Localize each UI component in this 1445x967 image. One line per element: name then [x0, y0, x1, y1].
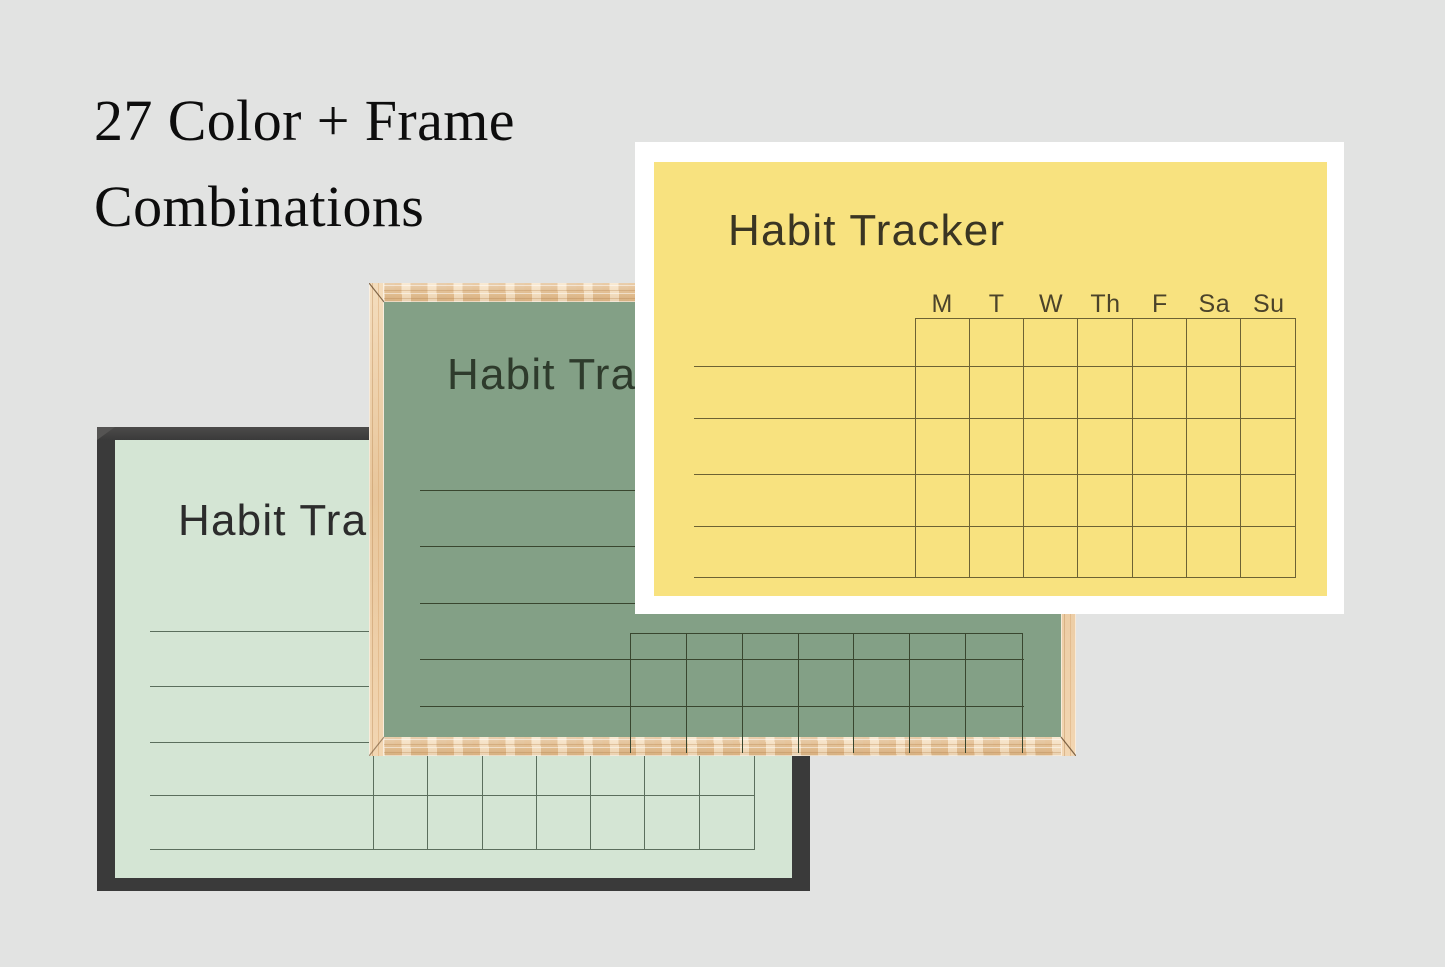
grid-cell[interactable] — [1078, 525, 1132, 577]
grid-cell[interactable] — [687, 694, 743, 754]
grid-cell[interactable] — [483, 796, 537, 850]
page-title: 27 Color + Frame Combinations — [94, 78, 654, 250]
grid-cell[interactable] — [854, 694, 910, 754]
day-label: M — [915, 290, 969, 319]
grid-cell[interactable] — [700, 796, 754, 850]
grid-cell[interactable] — [1133, 474, 1187, 526]
grid-cell[interactable] — [1024, 474, 1078, 526]
grid-cell[interactable] — [1078, 474, 1132, 526]
grid-cell[interactable] — [916, 319, 970, 371]
grid-cell[interactable] — [631, 694, 687, 754]
grid-cell[interactable] — [966, 634, 1022, 694]
card-title-yellow: Habit Tracker — [728, 206, 1005, 256]
grid-cell[interactable] — [1187, 371, 1241, 423]
grid-cell[interactable] — [1241, 371, 1295, 423]
grid-cell[interactable] — [970, 422, 1024, 474]
grid-cell[interactable] — [970, 474, 1024, 526]
card-paper-yellow: Habit Tracker M T W Th F Sa Su — [654, 162, 1327, 596]
habit-grid-yellow[interactable] — [915, 318, 1296, 577]
habit-tracker-card-yellow[interactable]: Habit Tracker M T W Th F Sa Su — [635, 142, 1344, 614]
day-label: W — [1024, 290, 1078, 319]
grid-cell[interactable] — [631, 634, 687, 694]
grid-cell[interactable] — [916, 525, 970, 577]
grid-cell[interactable] — [916, 474, 970, 526]
grid-cell[interactable] — [1078, 422, 1132, 474]
grid-cell[interactable] — [916, 371, 970, 423]
wood-frame-left — [369, 283, 384, 756]
grid-cell[interactable] — [1241, 422, 1295, 474]
rule-line — [694, 577, 1296, 578]
grid-cell[interactable] — [1133, 371, 1187, 423]
grid-cell[interactable] — [1241, 319, 1295, 371]
day-label: Su — [1242, 290, 1296, 319]
grid-cell[interactable] — [970, 371, 1024, 423]
grid-cell[interactable] — [1241, 474, 1295, 526]
grid-cell[interactable] — [1024, 422, 1078, 474]
grid-cell[interactable] — [854, 634, 910, 694]
grid-cell[interactable] — [799, 694, 855, 754]
day-label: T — [969, 290, 1023, 319]
grid-cell[interactable] — [910, 694, 966, 754]
grid-cell[interactable] — [428, 796, 482, 850]
grid-cell[interactable] — [1024, 525, 1078, 577]
grid-cell[interactable] — [743, 634, 799, 694]
grid-cell[interactable] — [1133, 422, 1187, 474]
habit-grid-mint[interactable] — [373, 742, 755, 849]
grid-cell[interactable] — [910, 634, 966, 694]
grid-cell[interactable] — [591, 796, 645, 850]
grid-cell[interactable] — [374, 796, 428, 850]
day-label: Th — [1078, 290, 1132, 319]
grid-cell[interactable] — [966, 694, 1022, 754]
grid-cell[interactable] — [1024, 371, 1078, 423]
rule-line — [150, 849, 755, 850]
grid-cell[interactable] — [1024, 319, 1078, 371]
day-label-row-yellow: M T W Th F Sa Su — [915, 290, 1296, 319]
poster-canvas: 27 Color + Frame Combinations Habit Tra — [0, 0, 1445, 967]
card-title-mint: Habit Tra — [178, 496, 367, 546]
grid-cell[interactable] — [1078, 319, 1132, 371]
grid-cell[interactable] — [743, 694, 799, 754]
grid-cell[interactable] — [537, 796, 591, 850]
grid-cell[interactable] — [970, 319, 1024, 371]
grid-cell[interactable] — [1187, 474, 1241, 526]
grid-cell[interactable] — [1187, 525, 1241, 577]
grid-cell[interactable] — [1241, 525, 1295, 577]
grid-cell[interactable] — [1133, 525, 1187, 577]
grid-cell[interactable] — [916, 422, 970, 474]
day-label: F — [1133, 290, 1187, 319]
grid-cell[interactable] — [1187, 319, 1241, 371]
grid-cell[interactable] — [1133, 319, 1187, 371]
habit-grid-sage[interactable] — [630, 633, 1023, 753]
grid-cell[interactable] — [1078, 371, 1132, 423]
grid-cell[interactable] — [970, 525, 1024, 577]
grid-cell[interactable] — [645, 796, 699, 850]
day-label: Sa — [1187, 290, 1241, 319]
grid-cell[interactable] — [799, 634, 855, 694]
frame-bevel-corner — [97, 427, 115, 440]
grid-cell[interactable] — [1187, 422, 1241, 474]
grid-cell[interactable] — [687, 634, 743, 694]
card-title-sage: Habit Tra — [447, 350, 636, 400]
